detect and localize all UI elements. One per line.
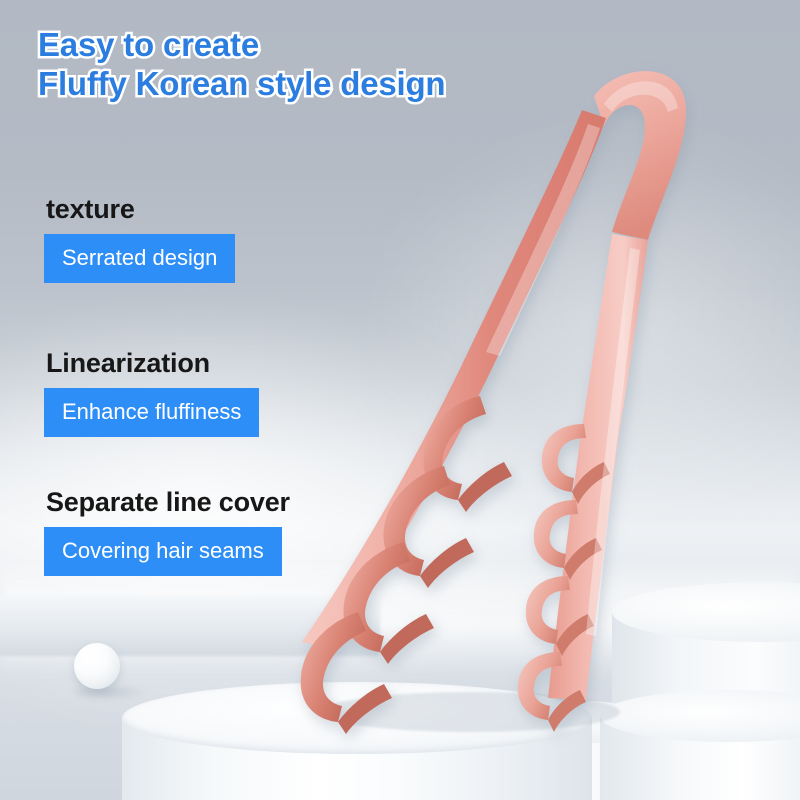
background-ledge [0,596,380,656]
feature-block-linearization: Linearization Enhance fluffiness [44,348,259,437]
feature-block-texture: texture Serrated design [44,194,235,283]
feature-badge: Covering hair seams [44,527,282,576]
feature-title: Separate line cover [46,487,290,518]
podium-top [122,682,592,754]
feature-title: Linearization [46,348,259,379]
headline-line-2: Fluffy Korean style design [38,65,445,104]
podium-main-front [122,682,592,800]
feature-badge: Enhance fluffiness [44,388,259,437]
product-marketing-image: Easy to create Fluffy Korean style desig… [0,0,800,800]
headline: Easy to create Fluffy Korean style desig… [38,26,445,103]
feature-badge: Serrated design [44,234,235,283]
podium-right-front [600,690,800,800]
decorative-sphere [74,643,120,689]
headline-line-1: Easy to create [38,26,445,65]
background-light-glow-secondary [360,120,800,540]
feature-title: texture [46,194,235,225]
feature-block-separate-line-cover: Separate line cover Covering hair seams [44,487,290,576]
